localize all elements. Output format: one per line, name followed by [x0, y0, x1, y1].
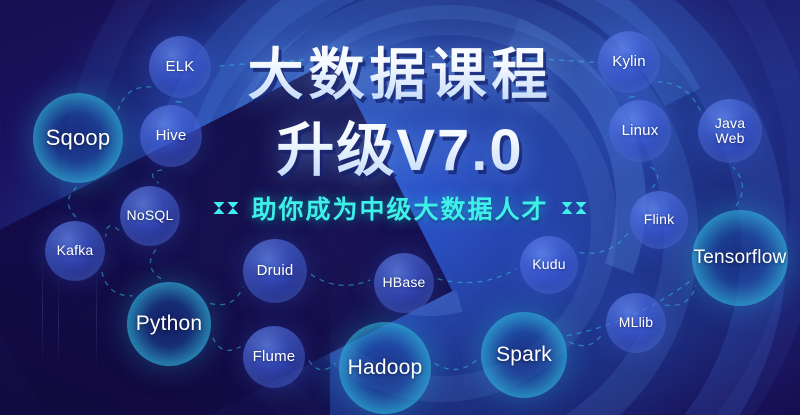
- connector-line: [438, 269, 517, 283]
- connector-line: [580, 232, 629, 253]
- connector-line: [435, 359, 477, 369]
- tech-bubble-hbase[interactable]: HBase: [374, 253, 434, 313]
- tech-bubble-mllib[interactable]: MLlib: [606, 293, 666, 353]
- tech-bubble-label: Tensorflow: [694, 248, 787, 269]
- background-streak-2: [58, 275, 59, 370]
- bowtie-icon: [576, 202, 587, 214]
- tech-bubble-hadoop[interactable]: Hadoop: [339, 322, 431, 414]
- bowtie-icon: [213, 202, 224, 214]
- tech-bubble-label: Druid: [257, 263, 294, 279]
- page-title-line2: 升级V7.0: [0, 103, 800, 187]
- tech-bubble-label: Spark: [496, 344, 552, 367]
- subtitle-text: 助你成为中级大数据人才: [251, 190, 548, 226]
- big-data-course-banner: ELKSqoopHiveNoSQLKafkaPythonDruidFlumeHa…: [0, 0, 800, 415]
- tech-bubble-label: Flume: [253, 349, 296, 365]
- tech-bubble-label: Kudu: [532, 257, 566, 272]
- tech-bubble-spark[interactable]: Spark: [481, 312, 567, 398]
- tech-bubble-kafka[interactable]: Kafka: [45, 221, 105, 281]
- bowtie-icon: [227, 202, 238, 214]
- bowtie-decoration-left: [213, 202, 238, 214]
- connector-line: [665, 286, 696, 306]
- tech-bubble-label: Python: [136, 313, 203, 336]
- tech-bubble-python[interactable]: Python: [127, 282, 211, 366]
- tech-bubble-label: Kafka: [57, 243, 94, 258]
- connector-line: [569, 332, 603, 345]
- tech-bubble-druid[interactable]: Druid: [243, 239, 307, 303]
- tech-bubble-label: HBase: [382, 275, 425, 290]
- background-streak-3: [96, 262, 97, 372]
- tech-bubble-label: Hadoop: [348, 357, 423, 380]
- bowtie-icon: [562, 202, 573, 214]
- bowtie-decoration-right: [562, 202, 587, 214]
- subtitle-row: 助你成为中级大数据人才: [0, 190, 800, 226]
- page-title-line1: 大数据课程: [0, 30, 800, 111]
- tech-bubble-label: MLlib: [619, 315, 653, 330]
- tech-bubble-flume[interactable]: Flume: [243, 326, 305, 388]
- background-streak-1: [42, 250, 43, 370]
- tech-bubble-kudu[interactable]: Kudu: [520, 236, 578, 294]
